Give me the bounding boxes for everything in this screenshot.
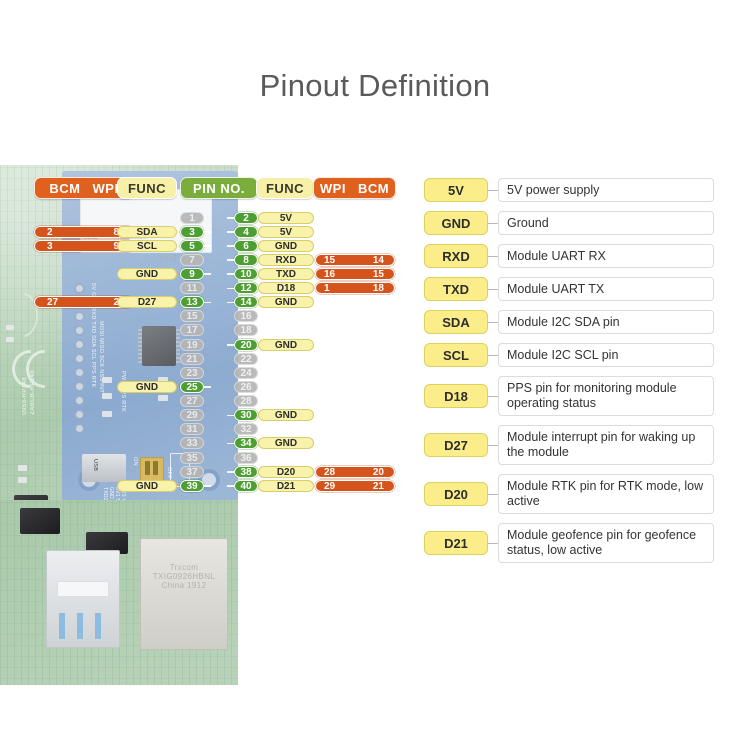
legend-description-5v: 5V power supply <box>498 178 714 202</box>
pin-left-func-3: SDA <box>117 226 177 238</box>
right-bcm-value: 20 <box>373 467 384 479</box>
module-ic <box>142 326 176 366</box>
pin-number-15: 15 <box>180 310 204 322</box>
pin-connector-left <box>204 245 211 247</box>
pin-number-25: 25 <box>180 381 204 393</box>
legend-row-sda: SDAModule I2C SDA pin <box>424 310 714 334</box>
pin-number-14: 14 <box>234 296 258 308</box>
header-right-func: FUNC <box>256 177 314 199</box>
pin-number-29: 29 <box>180 409 204 421</box>
pin-left-func-25: GND <box>117 381 177 393</box>
pin-left-func-39: GND <box>117 480 177 492</box>
legend-connector-line <box>488 289 498 290</box>
silkscreen-on: ON <box>132 457 138 473</box>
pin-number-17: 17 <box>180 324 204 336</box>
pin-number-12: 12 <box>234 282 258 294</box>
pin-number-11: 11 <box>180 282 204 294</box>
pin-connector-right <box>227 273 234 275</box>
legend-badge-gnd: GND <box>424 211 488 235</box>
pin-number-4: 4 <box>234 226 258 238</box>
pcb-smd-4 <box>18 477 27 483</box>
legend-connector-line <box>488 256 498 257</box>
legend-description-d21: Module geofence pin for geofence status,… <box>498 523 714 563</box>
legend-badge-d21: D21 <box>424 531 488 555</box>
pin-right-func-8: RXD <box>258 254 314 266</box>
silkscreen-text-0953: 0953-RP148 <box>22 377 28 415</box>
pin-number-5: 5 <box>180 240 204 252</box>
legend-badge-scl: SCL <box>424 343 488 367</box>
header-right-wpi-label: WPI <box>320 182 346 195</box>
pin-right-func-6: GND <box>258 240 314 252</box>
pin-number-16: 16 <box>234 310 258 322</box>
legend-connector-line <box>488 445 498 446</box>
pin-connector-right <box>227 415 234 417</box>
right-wpi-value: 28 <box>324 467 335 479</box>
pin-connector-right <box>227 231 234 233</box>
pin-number-34: 34 <box>234 437 258 449</box>
pin-right-wpi-bcm-8: 1514 <box>315 254 395 266</box>
pin-number-8: 8 <box>234 254 258 266</box>
legend-description-d27: Module interrupt pin for waking up the m… <box>498 425 714 465</box>
legend-badge-sda: SDA <box>424 310 488 334</box>
legend-connector-line <box>488 494 498 495</box>
legend-connector-line <box>488 223 498 224</box>
pin-number-33: 33 <box>180 437 204 449</box>
pin-number-36: 36 <box>234 452 258 464</box>
pin-number-13: 13 <box>180 296 204 308</box>
pin-connector-right <box>227 485 234 487</box>
pin-number-1: 1 <box>180 212 204 224</box>
pin-connector-left <box>204 302 211 304</box>
pin-number-35: 35 <box>180 452 204 464</box>
pin-connector-right <box>227 344 234 346</box>
pin-number-23: 23 <box>180 367 204 379</box>
pin-number-24: 24 <box>234 367 258 379</box>
pin-connector-left <box>204 386 211 388</box>
legend-description-d18: PPS pin for monitoring module operating … <box>498 376 714 416</box>
legend-description-txd: Module UART TX <box>498 277 714 301</box>
pcb-smd-3 <box>18 465 27 471</box>
header-pin-no: PIN NO. <box>180 177 258 199</box>
pin-right-wpi-bcm-10: 1615 <box>315 268 395 280</box>
pin-right-func-12: D18 <box>258 282 314 294</box>
legend-badge-d27: D27 <box>424 433 488 457</box>
header-right-bcm-label: BCM <box>358 182 389 195</box>
pin-right-func-14: GND <box>258 296 314 308</box>
pin-connector-right <box>227 288 234 290</box>
legend-badge-d20: D20 <box>424 482 488 506</box>
legend-row-d21: D21Module geofence pin for geofence stat… <box>424 523 714 563</box>
pcb-smd-2 <box>6 337 14 342</box>
pin-number-28: 28 <box>234 395 258 407</box>
right-bcm-value: 14 <box>373 255 384 267</box>
pin-connector-right <box>227 443 234 445</box>
legend-connector-line <box>488 355 498 356</box>
pin-right-func-38: D20 <box>258 466 314 478</box>
right-wpi-value: 16 <box>324 269 335 281</box>
legend-badge-d18: D18 <box>424 384 488 408</box>
pin-number-19: 19 <box>180 339 204 351</box>
legend-badge-rxd: RXD <box>424 244 488 268</box>
pin-number-9: 9 <box>180 268 204 280</box>
legend-connector-line <box>488 543 498 544</box>
header-right-wpi-bcm: WPI BCM <box>313 177 396 199</box>
pin-number-37: 37 <box>180 466 204 478</box>
right-bcm-value: 18 <box>373 283 384 295</box>
pin-connector-left <box>204 273 211 275</box>
legend-description-scl: Module I2C SCL pin <box>498 343 714 367</box>
legend-connector-line <box>488 322 498 323</box>
pin-connector-left <box>204 485 211 487</box>
pin-left-func-5: SCL <box>117 240 177 252</box>
legend-row-5v: 5V5V power supply <box>424 178 714 202</box>
pin-right-func-2: 5V <box>258 212 314 224</box>
right-wpi-value: 29 <box>324 481 335 493</box>
pin-number-40: 40 <box>234 480 258 492</box>
pin-number-7: 7 <box>180 254 204 266</box>
header-left-func: FUNC <box>117 177 177 199</box>
pin-right-func-30: GND <box>258 409 314 421</box>
silkscreen-text-zabcb: ZABCB-RP148 <box>30 370 36 415</box>
left-bcm-value: 2 <box>47 227 53 239</box>
pin-number-32: 32 <box>234 423 258 435</box>
micro-usb-connector <box>82 454 126 482</box>
pin-number-2: 2 <box>234 212 258 224</box>
pin-connector-right <box>227 217 234 219</box>
legend-description-sda: Module I2C SDA pin <box>498 310 714 334</box>
pin-left-func-13: D27 <box>117 296 177 308</box>
pin-connector-right <box>227 259 234 261</box>
pin-connector-right <box>227 245 234 247</box>
legend-row-d18: D18PPS pin for monitoring module operati… <box>424 376 714 416</box>
silkscreen-spi-signals: MOSI MISO SCK NSS INT <box>98 321 104 401</box>
legend-row-d20: D20Module RTK pin for RTK mode, low acti… <box>424 474 714 514</box>
pin-number-18: 18 <box>234 324 258 336</box>
pin-number-26: 26 <box>234 381 258 393</box>
pin-connector-left <box>204 231 211 233</box>
pin-number-6: 6 <box>234 240 258 252</box>
pin-number-22: 22 <box>234 353 258 365</box>
legend-row-scl: SCLModule I2C SCL pin <box>424 343 714 367</box>
pin-number-20: 20 <box>234 339 258 351</box>
legend-row-gnd: GNDGround <box>424 211 714 235</box>
pin-number-3: 3 <box>180 226 204 238</box>
usb-a-connector <box>46 550 120 648</box>
pin-number-31: 31 <box>180 423 204 435</box>
legend-row-rxd: RXDModule UART RX <box>424 244 714 268</box>
pin-number-10: 10 <box>234 268 258 280</box>
right-bcm-value: 15 <box>373 269 384 281</box>
pin-connector-right <box>227 302 234 304</box>
pin-right-wpi-bcm-40: 2921 <box>315 480 395 492</box>
right-wpi-value: 15 <box>324 255 335 267</box>
pin-number-38: 38 <box>234 466 258 478</box>
silkscreen-usb: USB <box>92 459 98 481</box>
pin-number-21: 21 <box>180 353 204 365</box>
header-left-wpi-label: WPI <box>93 182 119 195</box>
legend-row-d27: D27Module interrupt pin for waking up th… <box>424 425 714 465</box>
right-wpi-value: 1 <box>324 283 330 295</box>
pin-left-func-9: GND <box>117 268 177 280</box>
pin-number-39: 39 <box>180 480 204 492</box>
pin-number-27: 27 <box>180 395 204 407</box>
ethernet-label: Trxcom TXIG0926HBNL China 1912 <box>141 563 227 590</box>
pin-right-wpi-bcm-12: 118 <box>315 282 395 294</box>
pin-right-func-34: GND <box>258 437 314 449</box>
legend-row-txd: TXDModule UART TX <box>424 277 714 301</box>
pin-connector-right <box>227 471 234 473</box>
left-bcm-value: 27 <box>47 297 58 309</box>
pin-right-func-40: D21 <box>258 480 314 492</box>
pin-right-func-10: TXD <box>258 268 314 280</box>
pin-right-wpi-bcm-38: 2820 <box>315 466 395 478</box>
legend-description-rxd: Module UART RX <box>498 244 714 268</box>
pin-right-func-20: GND <box>258 339 314 351</box>
legend-badge-txd: TXD <box>424 277 488 301</box>
gnss-hat-board: 20/08 61 SC000005013 u-blox 5V GND RXD T… <box>62 171 238 501</box>
pin-number-30: 30 <box>234 409 258 421</box>
left-bcm-value: 3 <box>47 241 53 253</box>
right-bcm-value: 21 <box>373 481 384 493</box>
header-left-bcm-label: BCM <box>49 182 80 195</box>
legend-badge-5v: 5V <box>424 178 488 202</box>
board-photo-lower: Trxcom TXIG0926HBNL China 1912 <box>0 500 238 685</box>
legend-connector-line <box>488 396 498 397</box>
pin-right-func-4: 5V <box>258 226 314 238</box>
page-title: Pinout Definition <box>0 68 750 104</box>
legend-description-d20: Module RTK pin for RTK mode, low active <box>498 474 714 514</box>
pcb-smd-1 <box>6 325 14 330</box>
ethernet-jack: Trxcom TXIG0926HBNL China 1912 <box>140 538 228 650</box>
legend-description-gnd: Ground <box>498 211 714 235</box>
legend-connector-line <box>488 190 498 191</box>
